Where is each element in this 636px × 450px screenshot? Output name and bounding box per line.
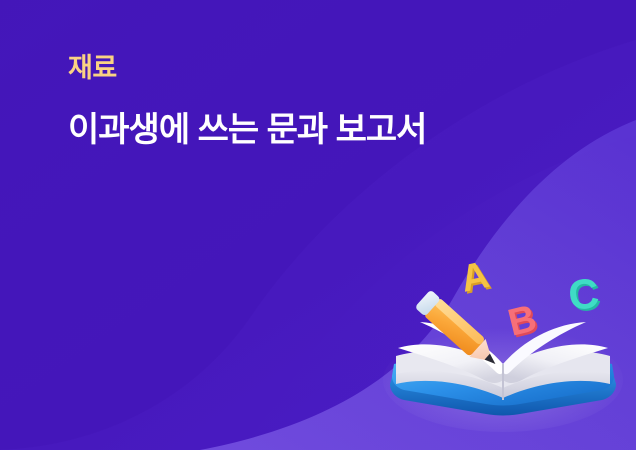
- page-title: 이과생에 쓰는 문과 보고서: [68, 108, 426, 152]
- open-book-illustration: A A C C: [370, 252, 636, 432]
- svg-text:A: A: [457, 254, 493, 301]
- eyebrow-label: 재료: [68, 52, 426, 86]
- promo-banner: 재료 이과생에 쓰는 문과 보고서: [0, 0, 636, 450]
- text-block: 재료 이과생에 쓰는 문과 보고서: [68, 52, 426, 152]
- letter-c-icon: C C: [566, 269, 603, 321]
- letter-a-icon: A A: [457, 254, 495, 303]
- svg-text:C: C: [566, 269, 601, 319]
